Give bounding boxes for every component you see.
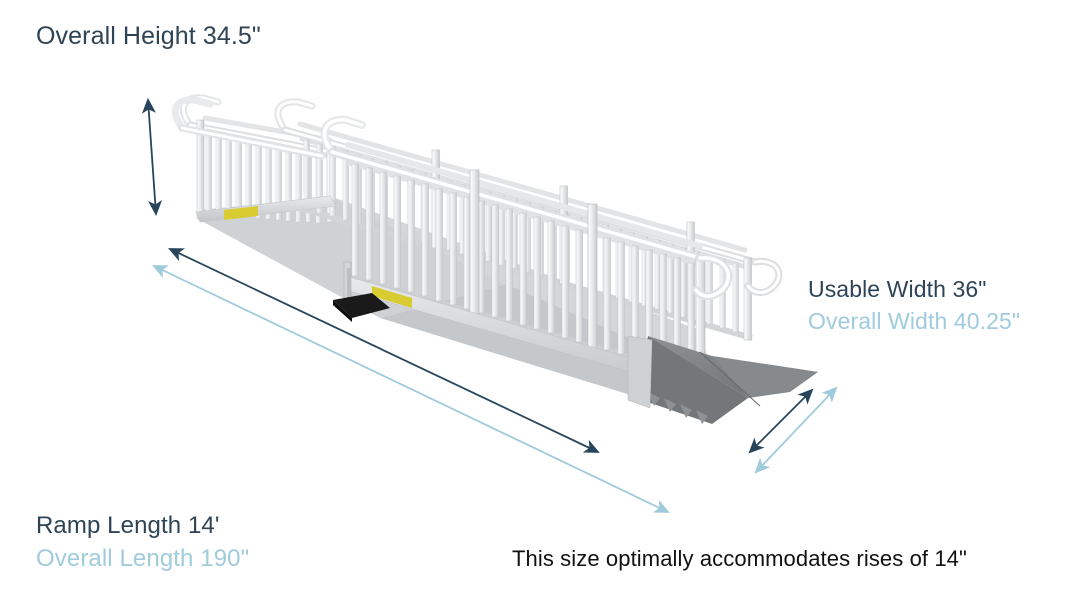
arrow-overall-width xyxy=(756,388,836,472)
ramp-dimension-diagram: Overall Height 34.5" Usable Width 36" Ov… xyxy=(0,0,1067,600)
label-rise-caption: This size optimally accommodates rises o… xyxy=(512,546,967,572)
arrow-ramp-length xyxy=(170,249,598,452)
arrow-overall-length xyxy=(154,266,668,512)
label-usable-width: Usable Width 36" xyxy=(808,276,987,303)
label-ramp-length: Ramp Length 14' xyxy=(36,512,220,540)
arrow-usable-width xyxy=(750,390,812,452)
arrow-overall-height xyxy=(148,100,156,214)
label-overall-length: Overall Length 190" xyxy=(36,545,249,573)
label-overall-height: Overall Height 34.5" xyxy=(36,22,261,51)
label-overall-width: Overall Width 40.25" xyxy=(808,308,1020,335)
